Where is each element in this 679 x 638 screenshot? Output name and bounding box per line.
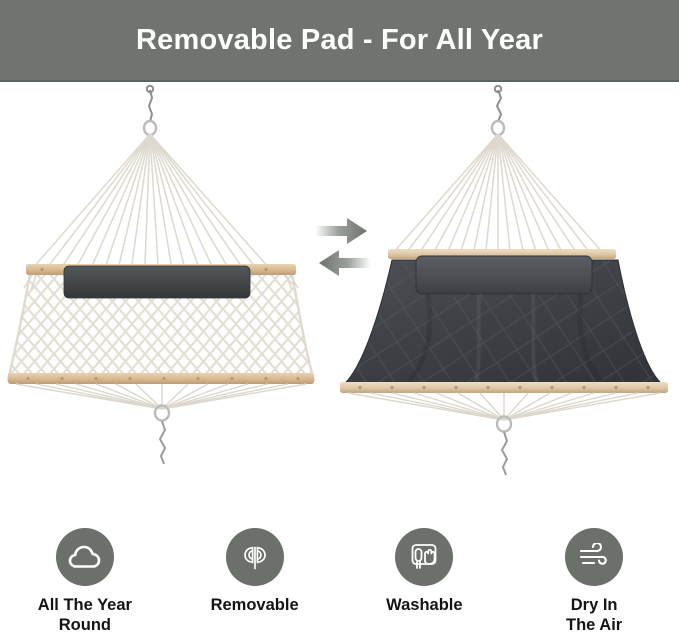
bottom-chain xyxy=(160,421,165,464)
feature-label: All The Year Round xyxy=(38,595,132,635)
feature-item-all-the-year-round: All The Year Round xyxy=(0,528,170,638)
product-comparison-stage xyxy=(0,84,679,504)
bottom-spreader-bar xyxy=(8,373,314,384)
feature-item-washable: Washable xyxy=(340,528,510,638)
suspension-ring xyxy=(144,121,156,135)
feature-label: Washable xyxy=(386,595,462,615)
hanging-chain xyxy=(147,86,153,122)
cloud-icon xyxy=(56,528,114,586)
hanging-chain xyxy=(495,86,501,122)
wind-icon xyxy=(565,528,623,586)
top-suspension-ropes xyxy=(32,134,270,269)
top-suspension-ropes xyxy=(392,134,604,254)
bolster-pillow xyxy=(64,266,250,298)
feature-label: Dry In The Air xyxy=(566,595,622,635)
bolster-pillow xyxy=(416,256,592,294)
feature-row: All The Year Round Removable xyxy=(0,528,679,638)
header-banner: Removable Pad - For All Year xyxy=(0,0,679,82)
suspension-ring xyxy=(492,121,504,135)
feature-label: Removable xyxy=(211,595,299,615)
page-title: Removable Pad - For All Year xyxy=(136,24,543,57)
bottom-spreader-bar xyxy=(340,382,668,393)
feature-item-removable: Removable xyxy=(170,528,340,638)
feature-item-dry-in-the-air: Dry In The Air xyxy=(509,528,679,638)
hammock-without-pad-image xyxy=(2,84,322,484)
zipper-icon xyxy=(226,528,284,586)
hammock-with-pad-image xyxy=(330,84,678,484)
handwash-icon xyxy=(395,528,453,586)
bottom-chain xyxy=(502,432,507,475)
